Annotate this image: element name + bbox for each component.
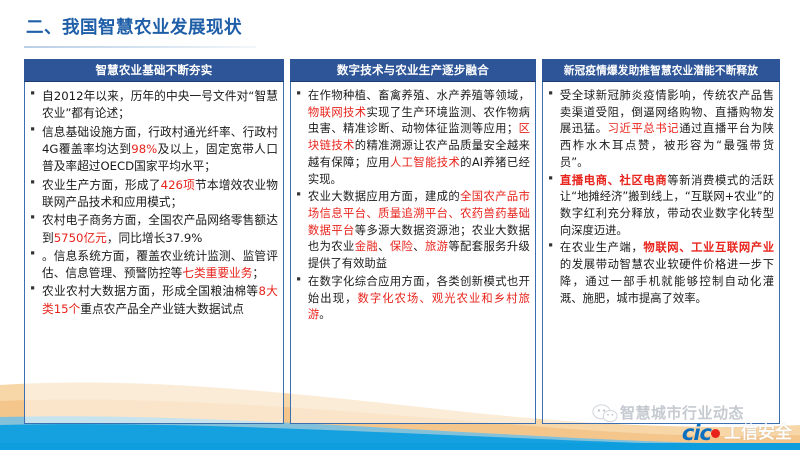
column-digital-tech-integration: 数字技术与农业生产逐步融合 在作物种植、畜禽养殖、水产养殖等领域，物联网技术实现… bbox=[290, 59, 536, 424]
list-item: 在数字化综合应用方面，各类创新模式也开始出现，数字化农场、观光农业和乡村旅游。 bbox=[294, 274, 530, 324]
column-1-header: 智慧农业基础不断夯实 bbox=[24, 59, 284, 82]
column-3-body: 受全球新冠肺炎疫情影响，传统农产品售卖渠道受阻，倒逼网络购物、直播购物发展迅猛。… bbox=[542, 82, 780, 424]
column-1-body: 自2012年以来，历年的中央一号文件对“智慧农业”都有论述； 信息基础设施方面，… bbox=[24, 82, 284, 424]
list-item: 农业大数据应用方面，建成的全国农产品市场信息平台、质量追溯平台、农药兽药基础数据… bbox=[294, 189, 530, 273]
slide-canvas: 二、我国智慧农业发展现状 智慧农业基础不断夯实 自2012年以来，历年的中央一号… bbox=[0, 0, 800, 450]
column-2-bullet-list: 在作物种植、畜禽养殖、水产养殖等领域，物联网技术实现了生产环境监测、农作物病虫害… bbox=[294, 88, 530, 324]
column-2-header: 数字技术与农业生产逐步融合 bbox=[290, 59, 536, 82]
list-item: 信息基础设施方面，行政村通光纤率、行政村4G覆盖率均达到98%及以上，固定宽带人… bbox=[28, 124, 278, 176]
list-item: 农业农村大数据方面，形成全国粮油棉等8大类15个重点农产品全产业链大数据试点 bbox=[28, 283, 278, 318]
column-3-bullet-list: 受全球新冠肺炎疫情影响，传统农产品售卖渠道受阻，倒逼网络购物、直播购物发展迅猛。… bbox=[546, 88, 774, 307]
list-item: 直播电商、社区电商等新消费模式的活跃让“地摊经济”搬到线上，“互联网+农业”的数… bbox=[546, 173, 774, 240]
logo-chinese-text: 工信安全 bbox=[724, 425, 792, 442]
list-item: 农村电子商务方面，全国农产品网络零售额达到5750亿元，同比增长37.9% bbox=[28, 212, 278, 247]
list-item: 自2012年以来，历年的中央一号文件对“智慧农业”都有论述； bbox=[28, 88, 278, 123]
title-divider bbox=[24, 46, 256, 48]
list-item: 在作物种植、畜禽养殖、水产养殖等领域，物联网技术实现了生产环境监测、农作物病虫害… bbox=[294, 88, 530, 188]
column-2-body: 在作物种植、畜禽养殖、水产养殖等领域，物联网技术实现了生产环境监测、农作物病虫害… bbox=[290, 82, 536, 424]
column-covid-potential-release: 新冠疫情爆发助推智慧农业潜能不断释放 受全球新冠肺炎疫情影响，传统农产品售卖渠道… bbox=[542, 59, 780, 424]
logo-red-dot-icon bbox=[711, 429, 720, 438]
list-item: 受全球新冠肺炎疫情影响，传统农产品售卖渠道受阻，倒逼网络购物、直播购物发展迅猛。… bbox=[546, 88, 774, 172]
list-item: 在农业生产端，物联网、工业互联网产业的发展带动智慧农业软硬件价格进一步下降，通过… bbox=[546, 240, 774, 307]
column-1-bullet-list: 自2012年以来，历年的中央一号文件对“智慧农业”都有论述； 信息基础设施方面，… bbox=[28, 88, 278, 318]
page-title: 二、我国智慧农业发展现状 bbox=[26, 14, 242, 39]
list-item: 。信息系统方面，覆盖农业统计监测、监管评估、信息管理、预警防控等七类重要业务； bbox=[28, 248, 278, 283]
list-item: 农业生产方面，形成了426项节本增效农业物联网产品技术和应用模式； bbox=[28, 177, 278, 212]
column-smart-agriculture-foundation: 智慧农业基础不断夯实 自2012年以来，历年的中央一号文件对“智慧农业”都有论述… bbox=[24, 59, 284, 424]
brand-logo: cic 工信安全 bbox=[682, 423, 792, 444]
column-3-header: 新冠疫情爆发助推智慧农业潜能不断释放 bbox=[542, 59, 780, 82]
logo-latin-text: cic bbox=[682, 423, 711, 444]
content-columns: 智慧农业基础不断夯实 自2012年以来，历年的中央一号文件对“智慧农业”都有论述… bbox=[24, 59, 780, 424]
